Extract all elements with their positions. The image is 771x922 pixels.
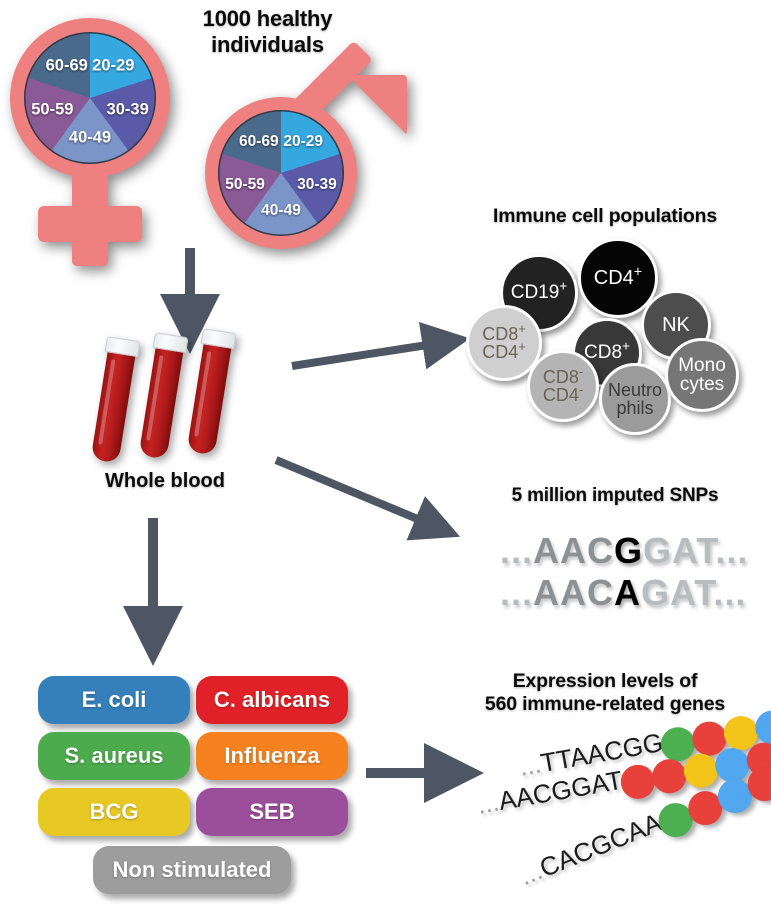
expression-sequence-text: ...CACGCAA (515, 807, 666, 891)
expression-bead (649, 756, 688, 795)
sequence-ellipsis: ... (475, 787, 502, 820)
sequence-ellipsis: ... (517, 749, 544, 782)
sequence-ellipsis: ... (515, 855, 546, 891)
expression-strand-group: ...TTAACGG...AACGGAT...CACGCAA (0, 0, 771, 922)
expression-bead (618, 762, 657, 801)
study-design-diagram: 1000 healthy individuals 20-2930-3940-49… (0, 0, 771, 922)
